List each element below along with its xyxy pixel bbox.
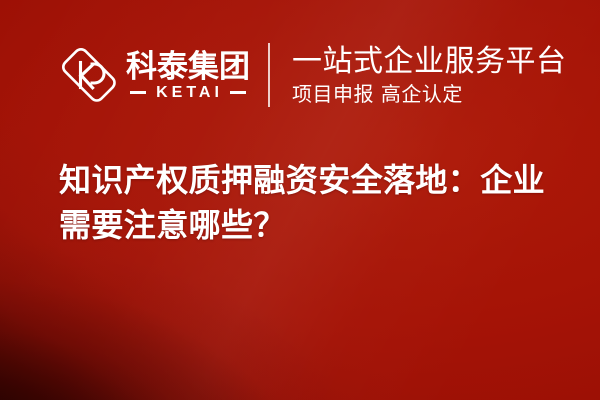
dash-icon (230, 91, 246, 94)
ketai-diamond-monogram-icon (60, 46, 118, 104)
brand-name-en: KETAI (146, 85, 230, 101)
promo-banner: 科泰集团 KETAI 一站式企业服务平台 项目申报 高企认定 知识产权质押融资安… (0, 0, 600, 400)
vertical-divider (268, 43, 270, 107)
brand-name-cn: 科泰集团 (126, 50, 250, 84)
tagline-main: 一站式企业服务平台 (292, 44, 567, 80)
banner-header: 科泰集团 KETAI 一站式企业服务平台 项目申报 高企认定 (60, 38, 567, 112)
tagline: 一站式企业服务平台 项目申报 高企认定 (292, 44, 567, 106)
brand-wordmark: 科泰集团 KETAI (126, 50, 250, 101)
dash-icon (130, 91, 146, 94)
tagline-sub: 项目申报 高企认定 (292, 82, 567, 106)
brand-logo[interactable]: 科泰集团 KETAI (60, 46, 250, 104)
brand-name-en-row: KETAI (126, 85, 250, 101)
headline-title: 知识产权质押融资安全落地：企业需要注意哪些？ (59, 158, 559, 248)
